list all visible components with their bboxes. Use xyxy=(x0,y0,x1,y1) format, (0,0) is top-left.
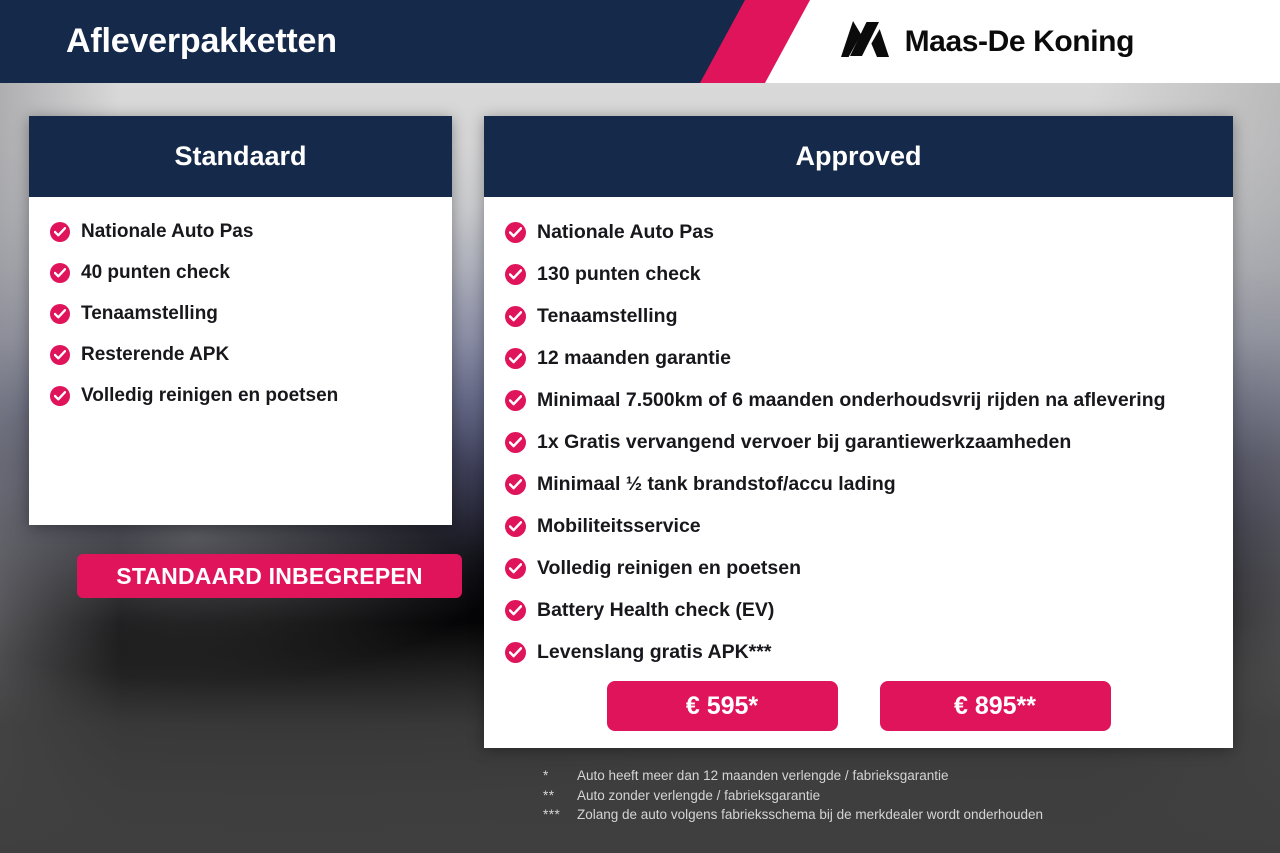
brand-logo: Maas-De Koning xyxy=(839,0,1134,83)
list-item: Battery Health check (EV) xyxy=(505,597,1233,623)
footnote-marker: *** xyxy=(543,805,577,825)
feature-label: 40 punten check xyxy=(81,260,230,285)
package-card-approved: Approved Nationale Auto Pas 130 punten c… xyxy=(484,116,1233,748)
check-circle-icon xyxy=(505,600,526,621)
list-item: Minimaal ½ tank brandstof/accu lading xyxy=(505,471,1233,497)
check-circle-icon xyxy=(505,222,526,243)
check-circle-icon xyxy=(50,263,70,283)
maas-de-koning-m-monogram-icon xyxy=(839,19,891,64)
package-title-standaard: Standaard xyxy=(29,116,452,197)
feature-label: Minimaal ½ tank brandstof/accu lading xyxy=(537,471,896,497)
footnote-marker: ** xyxy=(543,786,577,806)
footnote-triple-asterisk: *** Zolang de auto volgens fabrieksschem… xyxy=(543,805,1243,825)
check-circle-icon xyxy=(50,386,70,406)
check-circle-icon xyxy=(505,474,526,495)
list-item: Tenaamstelling xyxy=(50,301,452,326)
check-circle-icon xyxy=(505,516,526,537)
check-circle-icon xyxy=(505,432,526,453)
package-card-standaard: Standaard Nationale Auto Pas 40 punten c… xyxy=(29,116,452,525)
feature-label: Minimaal 7.500km of 6 maanden onderhouds… xyxy=(537,387,1166,413)
feature-label: Tenaamstelling xyxy=(81,301,218,326)
list-item: Volledig reinigen en poetsen xyxy=(50,383,452,408)
feature-label: Battery Health check (EV) xyxy=(537,597,774,623)
standaard-inbegrepen-button[interactable]: STANDAARD INBEGREPEN xyxy=(77,554,462,598)
list-item: Volledig reinigen en poetsen xyxy=(505,555,1233,581)
footnote-text: Zolang de auto volgens fabrieksschema bi… xyxy=(577,805,1243,825)
promo-poster: Afleverpakketten Maas-De Koning Standaar… xyxy=(0,0,1280,853)
page-title: Afleverpakketten xyxy=(66,0,337,83)
page-header: Afleverpakketten Maas-De Koning xyxy=(0,0,1280,83)
brand-name: Maas-De Koning xyxy=(905,25,1134,59)
check-circle-icon xyxy=(505,390,526,411)
list-item: Nationale Auto Pas xyxy=(505,219,1233,245)
footnote-single-asterisk: * Auto heeft meer dan 12 maanden verleng… xyxy=(543,766,1243,786)
package-body-standaard: Nationale Auto Pas 40 punten check Tenaa… xyxy=(29,197,452,525)
footnotes: * Auto heeft meer dan 12 maanden verleng… xyxy=(543,766,1243,825)
footnote-text: Auto heeft meer dan 12 maanden verlengde… xyxy=(577,766,1243,786)
feature-label: Nationale Auto Pas xyxy=(537,219,714,245)
feature-list-standaard: Nationale Auto Pas 40 punten check Tenaa… xyxy=(29,219,452,408)
feature-label: Volledig reinigen en poetsen xyxy=(81,383,338,408)
check-circle-icon xyxy=(505,306,526,327)
feature-label: Levenslang gratis APK*** xyxy=(537,639,771,665)
feature-label: Resterende APK xyxy=(81,342,229,367)
feature-label: Nationale Auto Pas xyxy=(81,219,253,244)
check-circle-icon xyxy=(505,558,526,579)
list-item: Levenslang gratis APK*** xyxy=(505,639,1233,665)
list-item: 130 punten check xyxy=(505,261,1233,287)
list-item: Minimaal 7.500km of 6 maanden onderhouds… xyxy=(505,387,1233,413)
footnote-double-asterisk: ** Auto zonder verlengde / fabrieksgaran… xyxy=(543,786,1243,806)
check-circle-icon xyxy=(50,345,70,365)
price-button-row: € 595* € 895** xyxy=(484,681,1233,731)
check-circle-icon xyxy=(505,264,526,285)
list-item: Mobiliteitsservice xyxy=(505,513,1233,539)
package-title-approved: Approved xyxy=(484,116,1233,197)
feature-label: 12 maanden garantie xyxy=(537,345,731,371)
feature-label: Mobiliteitsservice xyxy=(537,513,701,539)
list-item: 40 punten check xyxy=(50,260,452,285)
list-item: 1x Gratis vervangend vervoer bij garanti… xyxy=(505,429,1233,455)
feature-list-approved: Nationale Auto Pas 130 punten check Tena… xyxy=(484,219,1233,665)
list-item: Nationale Auto Pas xyxy=(50,219,452,244)
package-body-approved: Nationale Auto Pas 130 punten check Tena… xyxy=(484,197,1233,748)
footnote-text: Auto zonder verlengde / fabrieksgarantie xyxy=(577,786,1243,806)
feature-label: Tenaamstelling xyxy=(537,303,678,329)
check-circle-icon xyxy=(505,348,526,369)
feature-label: 130 punten check xyxy=(537,261,701,287)
check-circle-icon xyxy=(505,642,526,663)
price-button-895[interactable]: € 895** xyxy=(880,681,1111,731)
footnote-marker: * xyxy=(543,766,577,786)
list-item: Tenaamstelling xyxy=(505,303,1233,329)
list-item: Resterende APK xyxy=(50,342,452,367)
check-circle-icon xyxy=(50,222,70,242)
check-circle-icon xyxy=(50,304,70,324)
feature-label: 1x Gratis vervangend vervoer bij garanti… xyxy=(537,429,1071,455)
list-item: 12 maanden garantie xyxy=(505,345,1233,371)
price-button-595[interactable]: € 595* xyxy=(607,681,838,731)
feature-label: Volledig reinigen en poetsen xyxy=(537,555,801,581)
